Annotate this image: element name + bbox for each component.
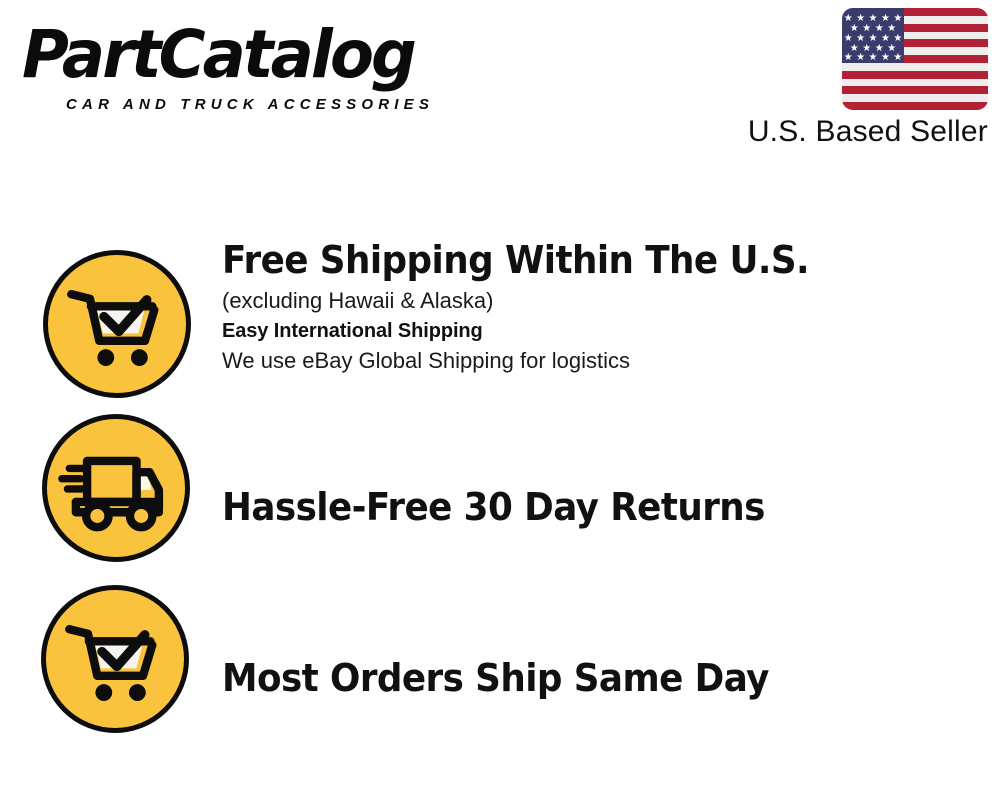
- brand-wordmark: PartCatalog: [22, 18, 414, 92]
- flag-stripe: [842, 71, 988, 79]
- seller-badge: ★★★★★ ★★★★ ★★★★★ ★★★★ ★★★★★ U.: [718, 8, 988, 150]
- shipping-info-banner: PartCatalog CAR AND TRUCK ACCESSORIES: [0, 0, 1000, 800]
- feature-title: Hassle-Free 30 Day Returns: [222, 483, 936, 531]
- feature-text-block: Free Shipping Within The U.S. (excluding…: [222, 236, 982, 376]
- seller-badge-label: U.S. Based Seller: [718, 114, 988, 150]
- feature-note: (excluding Hawaii & Alaska): [222, 286, 982, 316]
- flag-canton: ★★★★★ ★★★★ ★★★★★ ★★★★ ★★★★★: [842, 8, 904, 63]
- flag-star-row: ★★★★★: [842, 52, 904, 63]
- feature-sub-text: We use eBay Global Shipping for logistic…: [222, 346, 982, 376]
- delivery-truck-icon: [42, 414, 190, 562]
- flag-stripe: [842, 63, 988, 71]
- feature-row: Hassle-Free 30 Day Returns: [0, 376, 1000, 547]
- flag-stripe: [842, 94, 988, 102]
- flag-stripe: [842, 79, 988, 87]
- brand-tagline: CAR AND TRUCK ACCESSORIES: [66, 96, 434, 113]
- feature-row: Free Shipping Within The U.S. (excluding…: [0, 205, 1000, 376]
- feature-row: Most Orders Ship Same Day: [0, 547, 1000, 718]
- feature-text-block: Most Orders Ship Same Day: [222, 654, 982, 702]
- feature-list: Free Shipping Within The U.S. (excluding…: [0, 205, 1000, 718]
- feature-title: Free Shipping Within The U.S.: [222, 236, 936, 284]
- flag-stripe: [842, 86, 988, 94]
- feature-sub-heading: Easy International Shipping: [222, 316, 982, 346]
- feature-title: Most Orders Ship Same Day: [222, 654, 936, 702]
- banner-header: PartCatalog CAR AND TRUCK ACCESSORIES: [0, 0, 1000, 170]
- feature-text-block: Hassle-Free 30 Day Returns: [222, 483, 982, 531]
- us-flag-icon: ★★★★★ ★★★★ ★★★★★ ★★★★ ★★★★★: [842, 8, 988, 110]
- cart-check-icon: [41, 585, 189, 733]
- flag-stripe: [842, 102, 988, 110]
- brand-logo: PartCatalog CAR AND TRUCK ACCESSORIES: [22, 18, 492, 118]
